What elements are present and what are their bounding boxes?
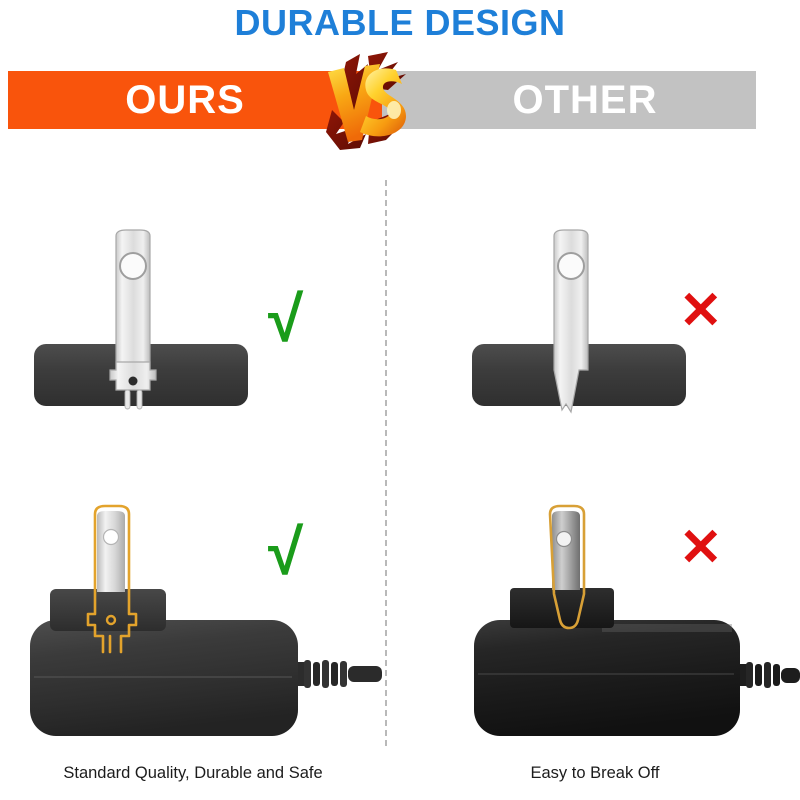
- ours-adapter-body: [30, 620, 298, 736]
- diagram-ours-prong: [28, 222, 278, 437]
- other-cable-cord: [781, 668, 800, 683]
- other-adapter-body: [474, 620, 740, 736]
- other-visible-prong-hole: [557, 532, 572, 547]
- banner-label-ours: OURS: [100, 71, 270, 129]
- ours-anchor-rivet: [129, 377, 138, 386]
- ours-visible-prong-hole: [104, 530, 119, 545]
- vertical-divider: [385, 180, 387, 746]
- check-mark-icon-row1: √: [268, 287, 303, 351]
- vs-highlight: [387, 101, 401, 119]
- photo-ours-adapter: [12, 492, 382, 737]
- photo-other-adapter: [452, 492, 800, 737]
- other-adapter-highlight: [602, 624, 732, 632]
- caption-other: Easy to Break Off: [400, 764, 790, 783]
- ours-anchor-leg-left: [125, 390, 130, 409]
- check-mark-icon-row2: √: [268, 520, 303, 584]
- ours-blade-hole: [120, 253, 146, 279]
- banner-label-other: OTHER: [500, 71, 670, 129]
- cross-mark-icon-row2: ✕: [679, 522, 723, 574]
- ours-anchor-leg-right: [137, 390, 142, 409]
- page-title: DURABLE DESIGN: [0, 2, 800, 44]
- versus-flame-icon: [310, 48, 420, 156]
- ours-cable-cord: [348, 666, 382, 682]
- other-strain-relief: [746, 662, 780, 688]
- ours-strain-relief: [304, 660, 347, 688]
- ours-prong-blade: [116, 230, 150, 376]
- other-blade-hole: [558, 253, 584, 279]
- other-visible-prong: [552, 511, 580, 590]
- infographic-canvas: DURABLE DESIGN OURS OTHER: [0, 0, 800, 800]
- caption-ours: Standard Quality, Durable and Safe: [0, 764, 386, 783]
- ours-visible-prong: [97, 511, 125, 592]
- ours-prong-collar: [50, 589, 166, 631]
- ours-anchor-shoulder: [110, 362, 156, 390]
- cross-mark-icon-row1: ✕: [679, 285, 723, 337]
